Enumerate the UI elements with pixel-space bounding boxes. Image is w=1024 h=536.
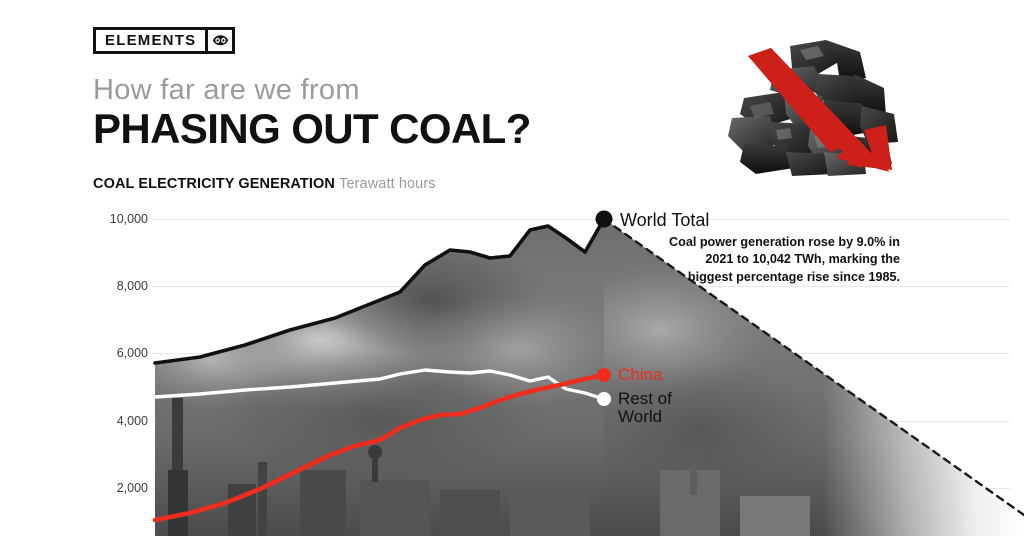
y-tick-6000: 6,000	[88, 346, 148, 360]
elements-globe-icon	[205, 30, 232, 51]
marker-world-total	[596, 211, 613, 228]
marker-rest-of-world	[597, 392, 611, 406]
legend-label-rest-of-world-line2: World	[618, 407, 662, 426]
y-tick-8000: 8,000	[88, 279, 148, 293]
legend-label-china: China	[618, 366, 662, 384]
chart-annotation: Coal power generation rose by 9.0% in 20…	[660, 234, 900, 286]
chart-photo-fill	[115, 210, 630, 536]
coal-pile-illustration	[714, 26, 914, 178]
legend-label-world-total: World Total	[620, 211, 709, 230]
y-tick-10000: 10,000	[88, 212, 148, 226]
page-title: PHASING OUT COAL?	[93, 105, 531, 153]
legend-label-rest-of-world: Rest of World	[618, 390, 672, 426]
chart-unit: Terawatt hours	[339, 176, 436, 192]
elements-logo[interactable]: ELEMENTS	[93, 27, 235, 54]
y-tick-4000: 4,000	[88, 414, 148, 428]
elements-logo-text: ELEMENTS	[96, 30, 205, 51]
chart-title: COAL ELECTRICITY GENERATION	[93, 176, 335, 192]
chart-title-row: COAL ELECTRICITY GENERATION Terawatt hou…	[93, 176, 436, 192]
legend-label-rest-of-world-line1: Rest of	[618, 389, 672, 408]
page-kicker: How far are we from	[93, 74, 360, 107]
y-tick-2000: 2,000	[88, 481, 148, 495]
marker-china	[597, 368, 611, 382]
